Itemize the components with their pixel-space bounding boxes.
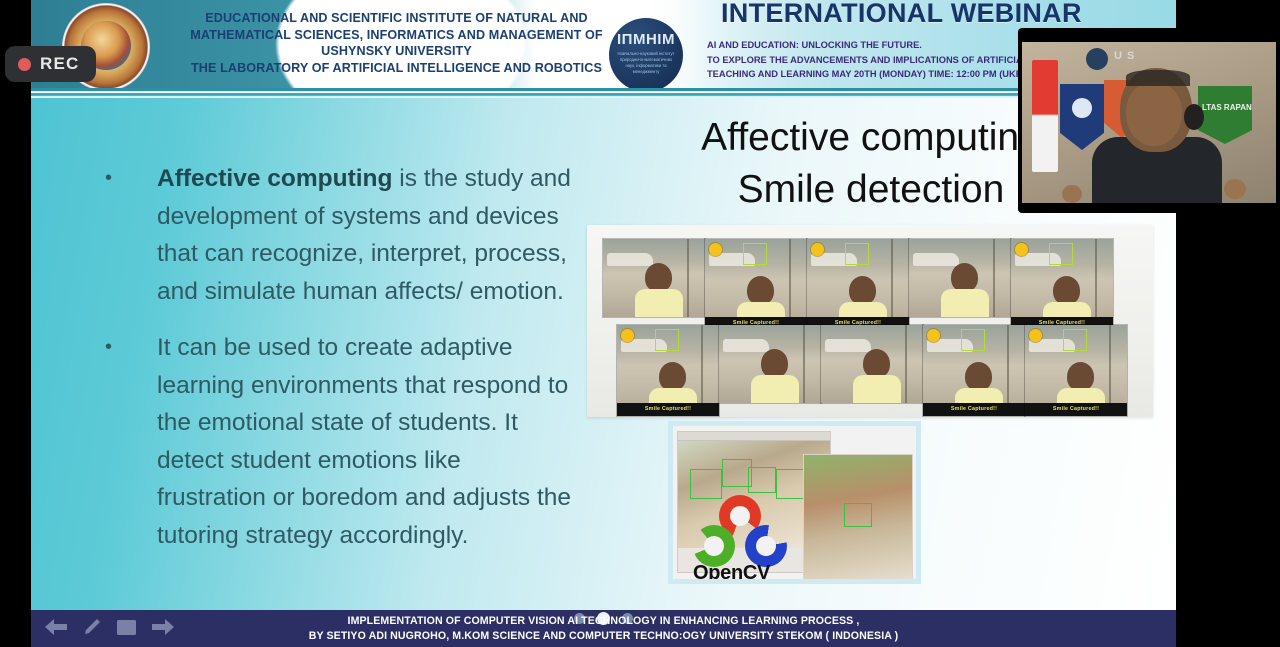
- webcam-video-feed: U S LTAS RAPAN: [1022, 42, 1276, 203]
- opencv-panel-inner: OpenCV: [673, 426, 916, 579]
- child-subject: [751, 349, 799, 403]
- recording-label: REC: [40, 54, 80, 74]
- filmstrip-frame: [719, 325, 821, 403]
- list-item: • It can be used to create adaptive lear…: [97, 329, 572, 554]
- filmstrip-frame: Smile Captured!!: [705, 239, 807, 330]
- pole-shape: [803, 325, 805, 403]
- speaker-webcam-overlay[interactable]: U S LTAS RAPAN: [1018, 28, 1280, 213]
- recording-indicator: REC: [5, 46, 96, 82]
- filmstrip-row-1: Smile Captured!!Smile Captured!!Smile Ca…: [603, 239, 1113, 330]
- smile-detection-box: [1049, 243, 1073, 265]
- pole-shape: [993, 239, 995, 317]
- inmhim-subtitle: Навчально-науковий інститут природничо-м…: [609, 48, 683, 75]
- filmstrip-row-2: Smile Captured!!Smile Captured!!Smile Ca…: [617, 325, 1127, 416]
- bullet-text-2: It can be used to create adaptive learni…: [157, 329, 572, 554]
- bullet-dot-icon: •: [97, 160, 157, 310]
- opencv-logo-icon: OpenCV: [687, 495, 807, 571]
- headset-earcup-icon: [1184, 104, 1204, 130]
- smile-detection-box: [655, 329, 679, 351]
- smiley-badge-icon: [1029, 329, 1042, 342]
- institute-title-line-4: THE LABORATORY OF ARTIFICIAL INTELLIGENC…: [169, 60, 624, 77]
- wall-logo-icon: [1086, 48, 1108, 70]
- bullet-text-1: Affective computing is the study and dev…: [157, 160, 572, 310]
- slide-header-banner: EDUCATIONAL AND SCIENTIFIC INSTITUTE OF …: [31, 0, 1176, 88]
- header-divider-stripe: [31, 88, 1176, 98]
- face-box: [844, 503, 872, 527]
- child-subject: [635, 263, 683, 317]
- smiley-badge-icon: [811, 243, 824, 256]
- child-head: [747, 276, 774, 305]
- headset-band-icon: [1126, 70, 1190, 86]
- speaker-hand-left: [1062, 185, 1082, 203]
- filmstrip-frame: [909, 239, 1011, 317]
- institute-title-line-2: MATHEMATICAL SCIENCES, INFORMATICS AND M…: [169, 27, 624, 44]
- smile-detection-box: [845, 243, 869, 265]
- filmstrip-frame: Smile Captured!!: [617, 325, 719, 416]
- institute-title: EDUCATIONAL AND SCIENTIFIC INSTITUTE OF …: [169, 10, 624, 76]
- smiley-badge-icon: [1015, 243, 1028, 256]
- smile-detection-box: [743, 243, 767, 265]
- presenter-footer-bar: IMPLEMENTATION OF COMPUTER VISION AI TEC…: [31, 610, 1176, 647]
- pole-shape: [687, 239, 689, 317]
- smile-captured-caption: Smile Captured!!: [1025, 403, 1127, 416]
- smiley-badge-icon: [709, 243, 722, 256]
- smiley-badge-icon: [927, 329, 940, 342]
- child-head: [951, 263, 978, 292]
- institute-title-line-3: USHYNSKY UNIVERSITY: [169, 43, 624, 60]
- child-shirt: [941, 289, 989, 317]
- smile-detection-filmstrip-panel: Smile Captured!!Smile Captured!!Smile Ca…: [587, 225, 1153, 417]
- inmhim-acronym: IПМНIМ: [609, 31, 683, 48]
- inmhim-logo-icon: IПМНIМ Навчально-науковий інститут приро…: [609, 18, 683, 88]
- slide-bullet-list: • Affective computing is the study and d…: [97, 160, 572, 573]
- child-head: [965, 362, 992, 391]
- filmstrip-frame: [821, 325, 923, 403]
- speaker-face: [1126, 82, 1182, 146]
- child-head: [849, 276, 876, 305]
- footer-caption-line-2: BY SETIYO ADI NUGROHO, M.KOM SCIENCE AND…: [31, 629, 1176, 644]
- filmstrip-frame: Smile Captured!!: [1011, 239, 1113, 330]
- smiley-badge-icon: [621, 329, 634, 342]
- speaker-hand-right: [1224, 179, 1246, 199]
- child-head: [645, 263, 672, 292]
- face-box: [748, 467, 776, 493]
- pole-shape: [905, 325, 907, 403]
- filmstrip-frame: Smile Captured!!: [923, 325, 1025, 416]
- opencv-ring-blue: [745, 525, 787, 567]
- child-shirt: [853, 375, 901, 403]
- child-head: [1067, 362, 1094, 391]
- child-head: [659, 362, 686, 391]
- opencv-wordmark: OpenCV: [693, 562, 770, 579]
- smile-detection-box: [961, 329, 985, 351]
- footer-caption-line-1: IMPLEMENTATION OF COMPUTER VISION AI TEC…: [31, 614, 1176, 629]
- child-head: [1053, 276, 1080, 305]
- wall-banner-text: U S: [1114, 50, 1135, 62]
- speaker-figure: [1092, 68, 1222, 203]
- opencv-face-detection-panel: OpenCV: [668, 421, 921, 584]
- filmstrip-frame: Smile Captured!!: [807, 239, 909, 330]
- filmstrip-frame: Smile Captured!!: [1025, 325, 1127, 416]
- child-subject: [853, 349, 901, 403]
- bullet-dot-icon: •: [97, 329, 157, 554]
- opencv-ring-green: [693, 525, 735, 567]
- screen-share-viewport: EDUCATIONAL AND SCIENTIFIC INSTITUTE OF …: [0, 0, 1280, 647]
- child-shirt: [635, 289, 683, 317]
- presentation-slide: EDUCATIONAL AND SCIENTIFIC INSTITUTE OF …: [31, 0, 1176, 610]
- list-item: • Affective computing is the study and d…: [97, 160, 572, 310]
- child-head: [863, 349, 890, 378]
- event-title: INTERNATIONAL WEBINAR: [721, 0, 1082, 29]
- child-shirt: [751, 375, 799, 403]
- bullet-lead-term: Affective computing: [157, 165, 393, 192]
- child-head: [761, 349, 788, 378]
- second-photo-face-detection: [803, 454, 913, 579]
- smile-captured-caption: Smile Captured!!: [617, 403, 719, 416]
- window-titlebar: [678, 432, 830, 441]
- footer-caption: IMPLEMENTATION OF COMPUTER VISION AI TEC…: [31, 614, 1176, 644]
- smile-detection-box: [1063, 329, 1087, 351]
- indonesia-flag-icon: [1032, 60, 1058, 172]
- institute-title-line-1: EDUCATIONAL AND SCIENTIFIC INSTITUTE OF …: [169, 10, 624, 27]
- child-subject: [941, 263, 989, 317]
- filmstrip-frame: [603, 239, 705, 317]
- record-dot-icon: [18, 58, 31, 71]
- smile-captured-caption: Smile Captured!!: [923, 403, 1025, 416]
